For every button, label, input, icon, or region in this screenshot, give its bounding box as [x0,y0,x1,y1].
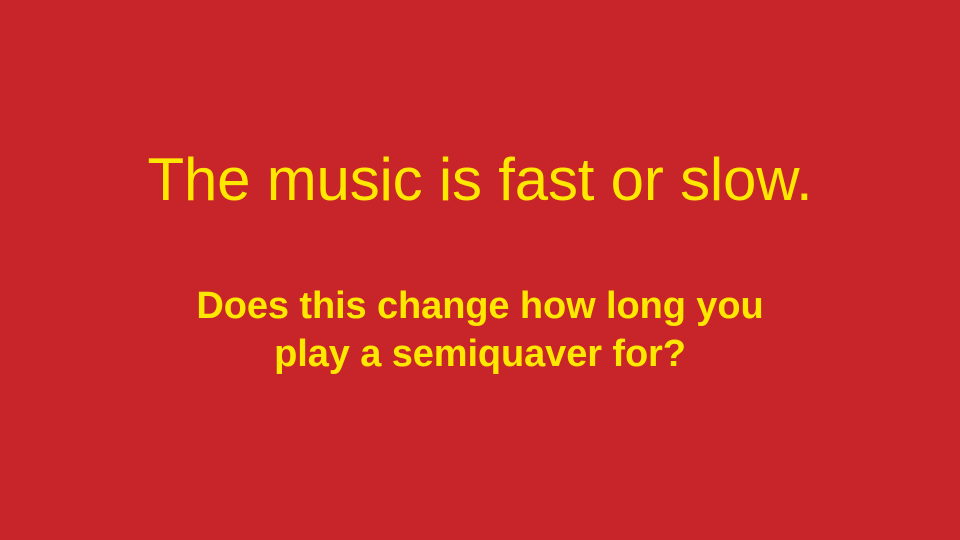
slide-canvas: The music is fast or slow. Does this cha… [0,0,960,540]
slide-body-text: Does this change how long you play a sem… [0,283,960,378]
slide-title: The music is fast or slow. [0,148,960,212]
